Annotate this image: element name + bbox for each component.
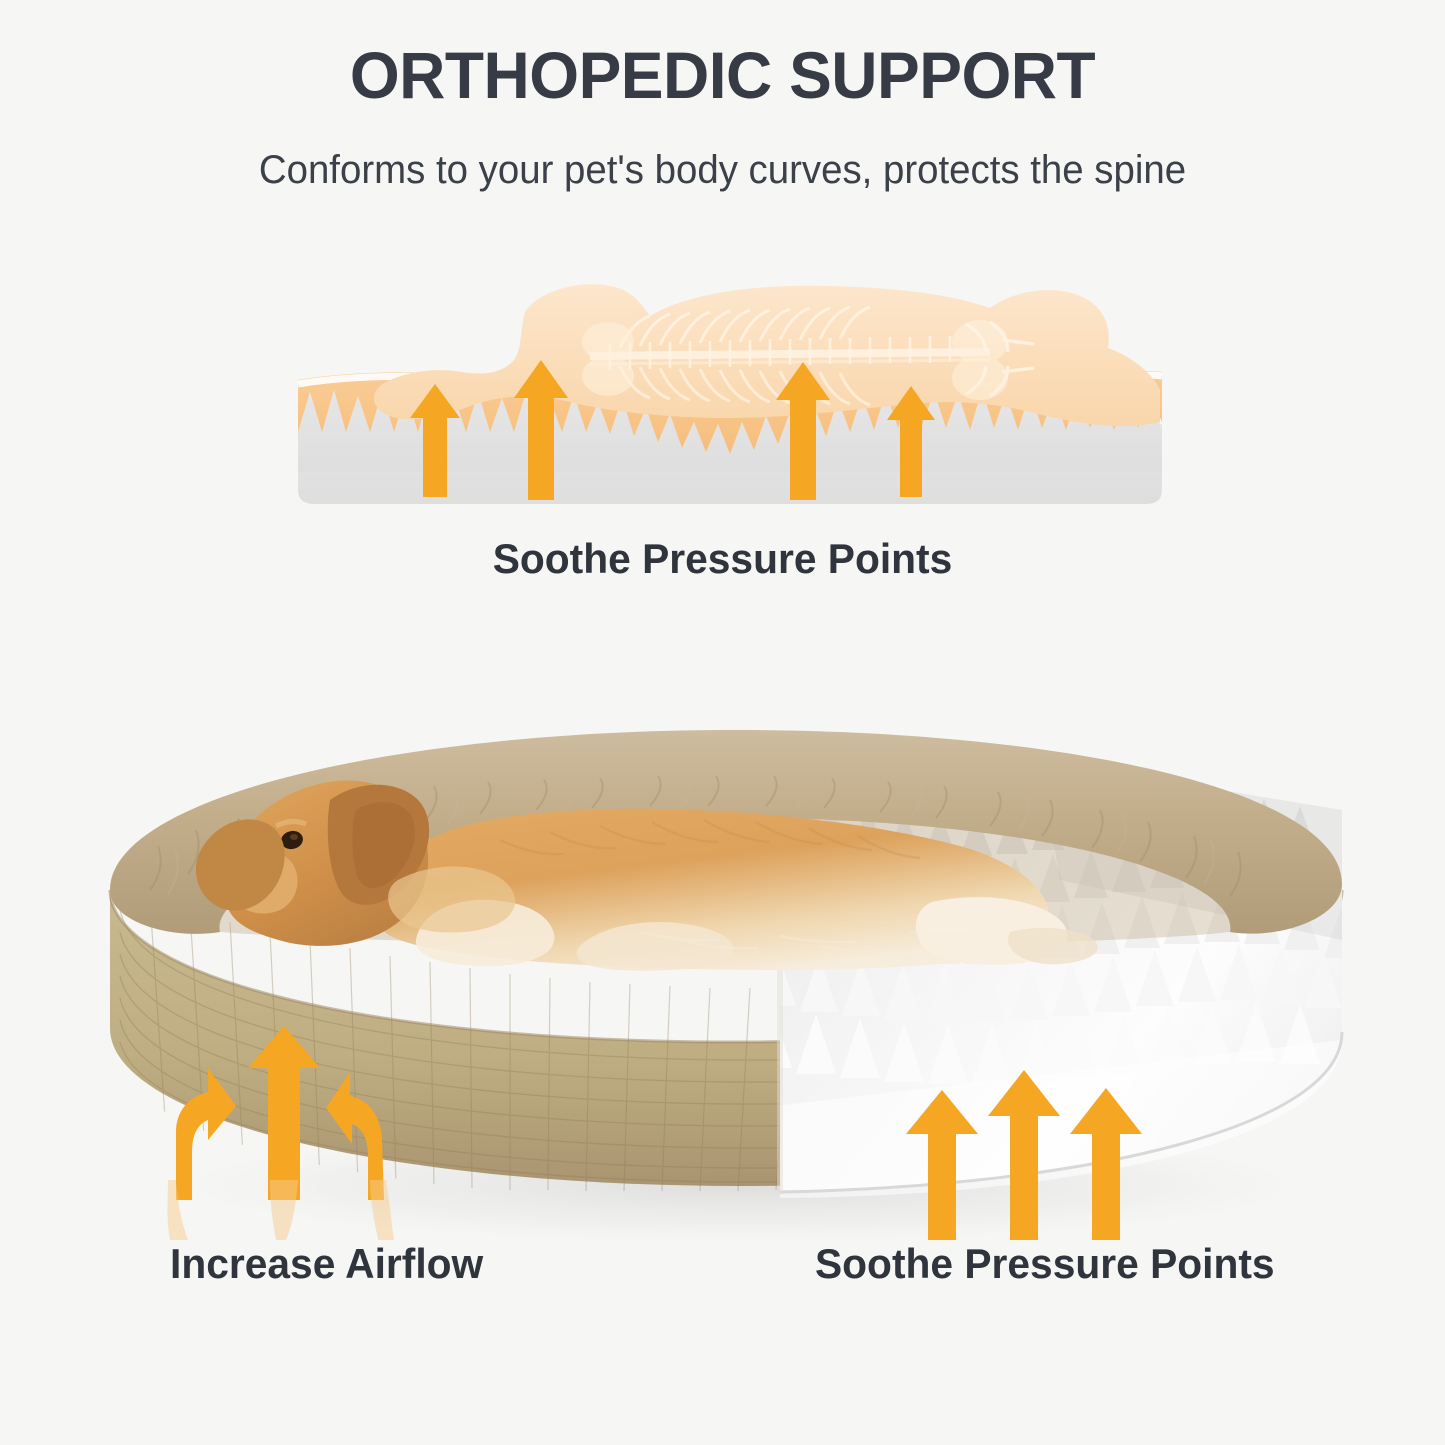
page-title: ORTHOPEDIC SUPPORT [22,42,1424,108]
callout-label-airflow: Increase Airflow [170,1240,483,1288]
diagram-caption: Soothe Pressure Points [22,535,1424,583]
pressure-point-diagram [290,272,1170,522]
pressure-arrows-product [906,1070,1142,1240]
product-photo [80,640,1370,1240]
product-feature-image: ORTHOPEDIC SUPPORT Conforms to your pet'… [0,0,1445,1445]
callout-label-pressure: Soothe Pressure Points [815,1240,1275,1288]
page-subtitle: Conforms to your pet's body curves, prot… [29,146,1416,194]
